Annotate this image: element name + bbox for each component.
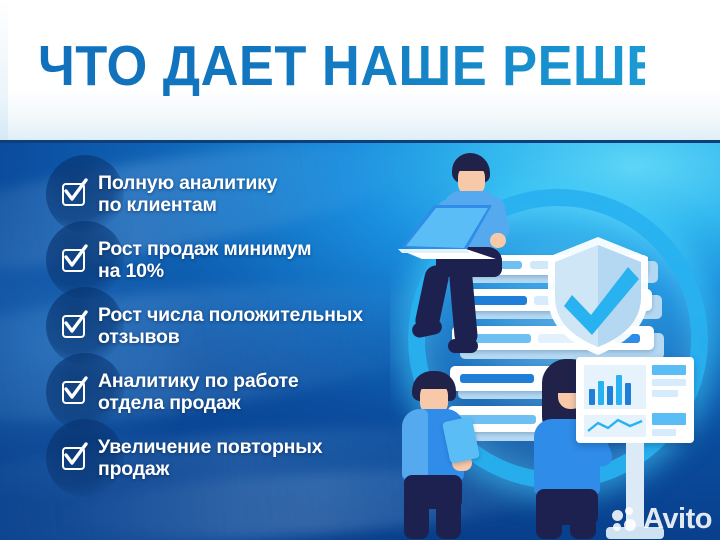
- avito-dots-logo-icon: [612, 507, 638, 533]
- benefit-item[interactable]: Аналитику по работе отдела продаж: [46, 359, 299, 425]
- benefit-item[interactable]: Полную аналитику по клиентам: [46, 161, 277, 227]
- checkbox-checked-icon[interactable]: [62, 381, 85, 404]
- benefit-item[interactable]: Рост продаж минимум на 10%: [46, 227, 311, 293]
- header-band: ЧТО ДАЕТ НАШЕ РЕШЕНИЕ: [0, 0, 720, 143]
- benefit-label: Аналитику по работе отдела продаж: [98, 370, 299, 414]
- avito-watermark: Avito: [612, 505, 712, 534]
- benefit-label: Рост числа положительных отзывов: [98, 304, 363, 348]
- checkbox-checked-icon[interactable]: [62, 249, 85, 272]
- main-panel: Полную аналитику по клиентам Рост продаж…: [0, 143, 720, 540]
- shield-with-checkmark-icon: [538, 231, 658, 361]
- checkbox-checked-icon[interactable]: [62, 315, 85, 338]
- avito-wordmark: Avito: [643, 505, 712, 534]
- benefit-item[interactable]: Рост числа положительных отзывов: [46, 293, 363, 359]
- page-title: ЧТО ДАЕТ НАШЕ РЕШЕНИЕ: [38, 36, 645, 96]
- benefit-label: Полную аналитику по клиентам: [98, 172, 277, 216]
- team-analytics-illustration: [390, 143, 720, 540]
- benefit-item[interactable]: Увеличение повторных продаж: [46, 425, 322, 491]
- checkbox-checked-icon[interactable]: [62, 447, 85, 470]
- checkbox-checked-icon[interactable]: [62, 183, 85, 206]
- benefit-label: Рост продаж минимум на 10%: [98, 238, 311, 282]
- benefit-label: Увеличение повторных продаж: [98, 436, 322, 480]
- promo-poster: ЧТО ДАЕТ НАШЕ РЕШЕНИЕ: [0, 0, 720, 540]
